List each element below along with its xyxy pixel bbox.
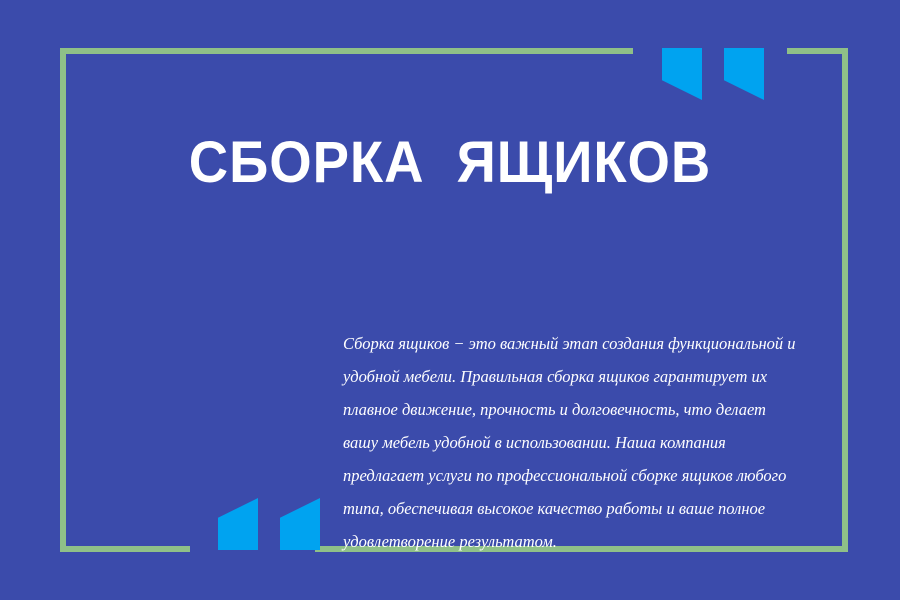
opening-quote-icon [218,498,320,550]
frame-border-top-left [60,48,633,54]
frame-border-left [60,48,66,552]
frame-border-right [842,48,848,552]
closing-quote-glyph-left [662,48,702,100]
slide-canvas: СБОРКА ЯЩИКОВ Сборка ящиков − это важный… [0,0,900,600]
opening-quote-glyph-right [280,498,320,550]
closing-quote-icon [662,48,764,100]
slide-body-text: Сборка ящиков − это важный этап создания… [343,327,805,558]
slide-title: СБОРКА ЯЩИКОВ [27,132,873,194]
opening-quote-glyph-left [218,498,258,550]
closing-quote-glyph-right [724,48,764,100]
frame-border-top-right [787,48,848,54]
frame-border-bottom-left [60,546,190,552]
